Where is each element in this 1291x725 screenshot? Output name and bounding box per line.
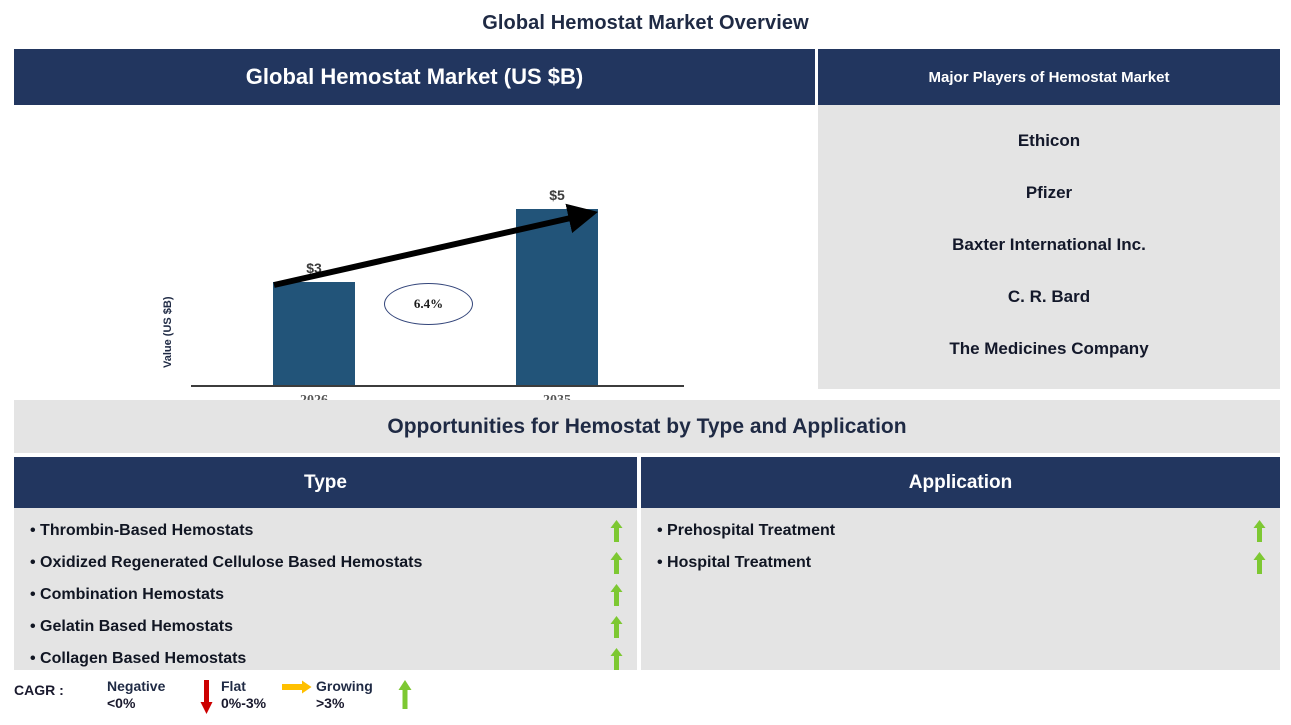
page-title: Global Hemostat Market Overview [0,12,1291,35]
legend-item-negative: Negative <0% [107,678,165,711]
arrow-down-red-icon [200,680,213,716]
application-column-header: Application [641,457,1280,508]
chart-y-axis-label: Value (US $B) [160,277,176,387]
legend-growing-label: Growing [316,678,373,694]
arrow-up-green-icon [1253,520,1266,542]
list-item: Pfizer [818,167,1280,219]
list-item: • Collagen Based Hemostats [14,643,637,675]
list-item: Ethicon [818,115,1280,167]
arrow-right-yellow-icon [282,680,312,698]
application-item-label: • Hospital Treatment [657,554,811,572]
list-item: C. R. Bard [818,271,1280,323]
legend-flat-label: Flat [221,678,266,694]
arrow-up-green-icon [398,680,412,710]
arrow-up-green-icon [610,584,623,606]
application-item-label: • Prehospital Treatment [657,522,835,540]
chart-plot-area: Value (US $B) $3 $5 2026 2035 6.4% Sourc… [14,105,815,389]
arrow-up-green-icon [1253,552,1266,574]
legend-negative-label: Negative [107,678,165,694]
legend-item-growing: Growing >3% [316,678,373,711]
type-item-label: • Gelatin Based Hemostats [30,618,233,636]
major-players-panel: Major Players of Hemostat Market Ethicon… [818,49,1280,389]
type-item-label: • Collagen Based Hemostats [30,650,246,668]
list-item: • Oxidized Regenerated Cellulose Based H… [14,547,637,579]
cagr-legend-title: CAGR : [14,682,64,698]
arrow-up-green-icon [610,616,623,638]
list-item: Baxter International Inc. [818,219,1280,271]
application-list: • Prehospital Treatment • Hospital Treat… [641,508,1280,670]
type-item-label: • Thrombin-Based Hemostats [30,522,253,540]
legend-item-flat: Flat 0%-3% [221,678,266,711]
opportunities-banner: Opportunities for Hemostat by Type and A… [14,400,1280,453]
infographic-root: Global Hemostat Market Overview Global H… [0,0,1291,725]
list-item: • Gelatin Based Hemostats [14,611,637,643]
legend-negative-range: <0% [107,695,165,711]
arrow-up-green-icon [610,648,623,670]
cagr-bubble: 6.4% [384,283,473,325]
players-list: Ethicon Pfizer Baxter International Inc.… [818,105,1280,389]
arrow-up-green-icon [610,552,623,574]
market-chart-panel: Global Hemostat Market (US $B) Value (US… [14,49,815,389]
chart-panel-header: Global Hemostat Market (US $B) [14,49,815,105]
legend-flat-range: 0%-3% [221,695,266,711]
players-panel-header: Major Players of Hemostat Market [818,49,1280,105]
legend-growing-range: >3% [316,695,373,711]
arrow-up-green-icon [610,520,623,542]
list-item: The Medicines Company [818,323,1280,375]
list-item: • Prehospital Treatment [641,515,1280,547]
list-item: • Thrombin-Based Hemostats [14,515,637,547]
type-column-header: Type [14,457,637,508]
list-item: • Combination Hemostats [14,579,637,611]
application-column: Application • Prehospital Treatment • Ho… [641,457,1280,670]
type-item-label: • Combination Hemostats [30,586,224,604]
type-column: Type • Thrombin-Based Hemostats • Oxidiz… [14,457,637,670]
list-item: • Hospital Treatment [641,547,1280,579]
type-item-label: • Oxidized Regenerated Cellulose Based H… [30,554,422,572]
type-list: • Thrombin-Based Hemostats • Oxidized Re… [14,508,637,670]
